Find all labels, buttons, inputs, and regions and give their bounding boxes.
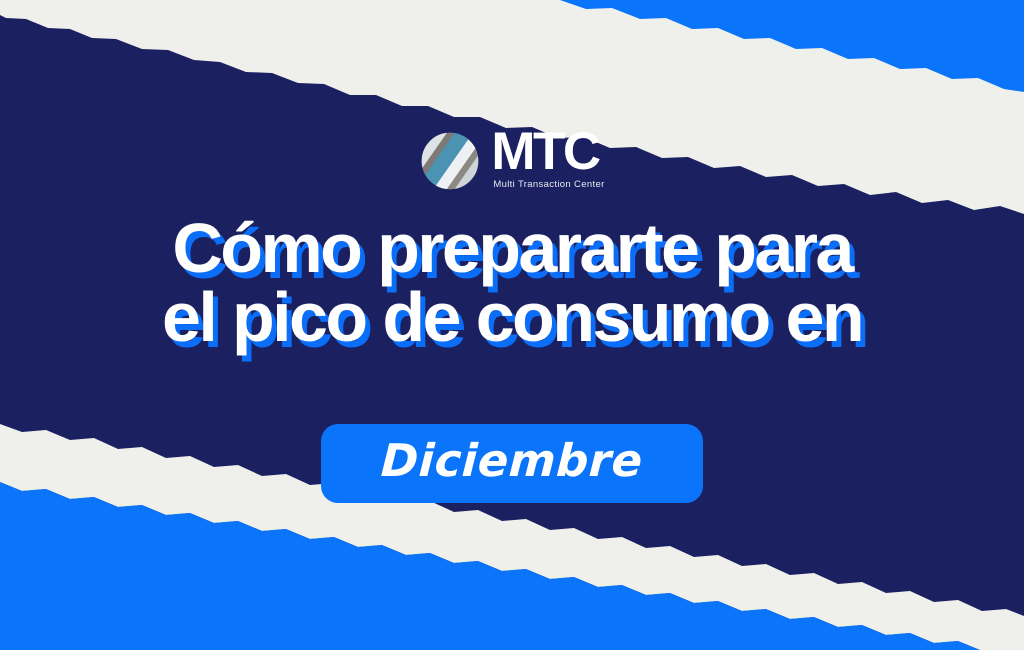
torn-edge-top-right-blue-area [560, 0, 1024, 92]
page-title: Cómo prepararte para el pico de consumo … [0, 214, 1024, 353]
logo-wordmark: MTC [491, 128, 598, 177]
month-badge-container: Diciembre [0, 424, 1024, 503]
headline-line-1: Cómo prepararte para [0, 214, 1024, 283]
logo-tagline: Multi Transaction Center [493, 180, 604, 190]
torn-edge-bottom-left-blue-area [0, 482, 980, 650]
brand-logo: MTC Multi Transaction Center [0, 128, 1024, 192]
month-badge: Diciembre [321, 424, 703, 503]
mtc-globe-icon [419, 130, 481, 192]
promo-poster: MTC Multi Transaction Center Cómo prepar… [0, 0, 1024, 650]
headline-line-2: el pico de consumo en [0, 283, 1024, 352]
month-badge-label: Diciembre [380, 438, 644, 483]
